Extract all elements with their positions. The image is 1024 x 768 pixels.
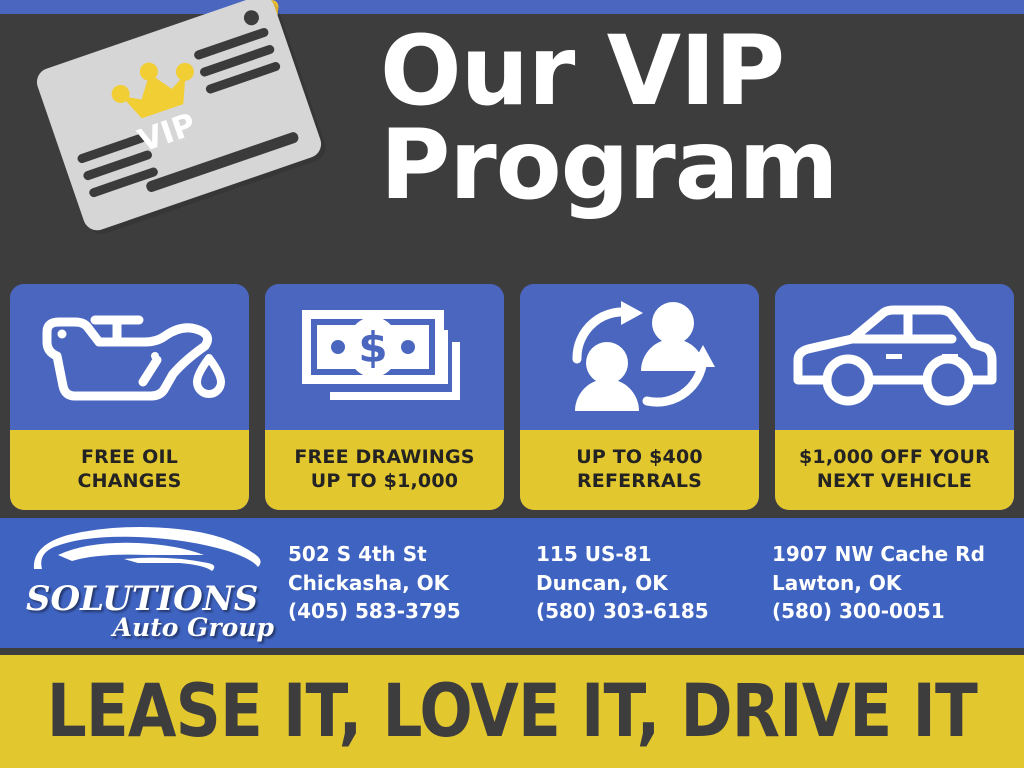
location-item[interactable]: 1907 NW Cache Rd Lawton, OK (580) 300-00… [772, 540, 1024, 625]
location-street: 115 US-81 [536, 540, 772, 568]
benefit-card-free-drawings[interactable]: $ FREE DRAWINGS UP TO $1,000 [265, 284, 504, 510]
benefit-label: FREE DRAWINGS UP TO $1,000 [265, 430, 504, 510]
vip-badge-graphic: VIP [30, 6, 350, 286]
tagline-text: LEASE IT, LOVE IT, DRIVE IT [47, 669, 977, 754]
benefits-card-row: FREE OIL CHANGES $ [10, 284, 1014, 510]
benefit-card-next-vehicle[interactable]: $1,000 OFF YOUR NEXT VEHICLE [775, 284, 1014, 510]
benefit-label-line-2: NEXT VEHICLE [817, 470, 972, 494]
car-icon [775, 284, 1014, 430]
vip-card-icon: VIP [33, 0, 325, 234]
location-street: 502 S 4th St [288, 540, 536, 568]
benefit-card-referrals[interactable]: UP TO $400 REFERRALS [520, 284, 759, 510]
money-stack-icon: $ [265, 284, 504, 430]
benefit-label-line-1: UP TO $400 [576, 446, 703, 470]
benefit-label: $1,000 OFF YOUR NEXT VEHICLE [775, 430, 1014, 510]
location-city: Lawton, OK [772, 569, 1024, 597]
benefit-card-oil-changes[interactable]: FREE OIL CHANGES [10, 284, 249, 510]
location-phone[interactable]: (580) 300-0051 [772, 597, 1024, 625]
brand-logo[interactable]: SOLUTIONS Auto Group [18, 523, 288, 643]
benefit-label-line-2: UP TO $1,000 [311, 470, 458, 494]
benefit-label-line-2: REFERRALS [577, 470, 702, 494]
location-item[interactable]: 115 US-81 Duncan, OK (580) 303-6185 [536, 540, 772, 625]
contact-band: SOLUTIONS Auto Group 502 S 4th St Chicka… [0, 518, 1024, 648]
card-hole [242, 8, 261, 27]
page-title: Our VIP Program [380, 24, 1000, 212]
benefit-label-line-1: FREE OIL [81, 446, 178, 470]
location-city: Duncan, OK [536, 569, 772, 597]
location-phone[interactable]: (405) 583-3795 [288, 597, 536, 625]
benefit-label: UP TO $400 REFERRALS [520, 430, 759, 510]
logo-subtitle: Auto Group [26, 613, 274, 642]
location-phone[interactable]: (580) 303-6185 [536, 597, 772, 625]
title-line-2: Program [380, 118, 1000, 212]
oil-can-icon [10, 284, 249, 430]
tagline-banner: LEASE IT, LOVE IT, DRIVE IT [0, 655, 1024, 768]
location-street: 1907 NW Cache Rd [772, 540, 1024, 568]
benefit-label-line-1: FREE DRAWINGS [294, 446, 474, 470]
locations-list: 502 S 4th St Chickasha, OK (405) 583-379… [288, 540, 1024, 625]
location-city: Chickasha, OK [288, 569, 536, 597]
svg-text:$: $ [358, 323, 387, 372]
hero-section: VIP Our VIP Program [0, 14, 1024, 284]
referral-users-icon [520, 284, 759, 430]
benefit-label-line-2: CHANGES [77, 470, 181, 494]
benefit-label: FREE OIL CHANGES [10, 430, 249, 510]
location-item[interactable]: 502 S 4th St Chickasha, OK (405) 583-379… [288, 540, 536, 625]
benefit-label-line-1: $1,000 OFF YOUR [799, 446, 990, 470]
